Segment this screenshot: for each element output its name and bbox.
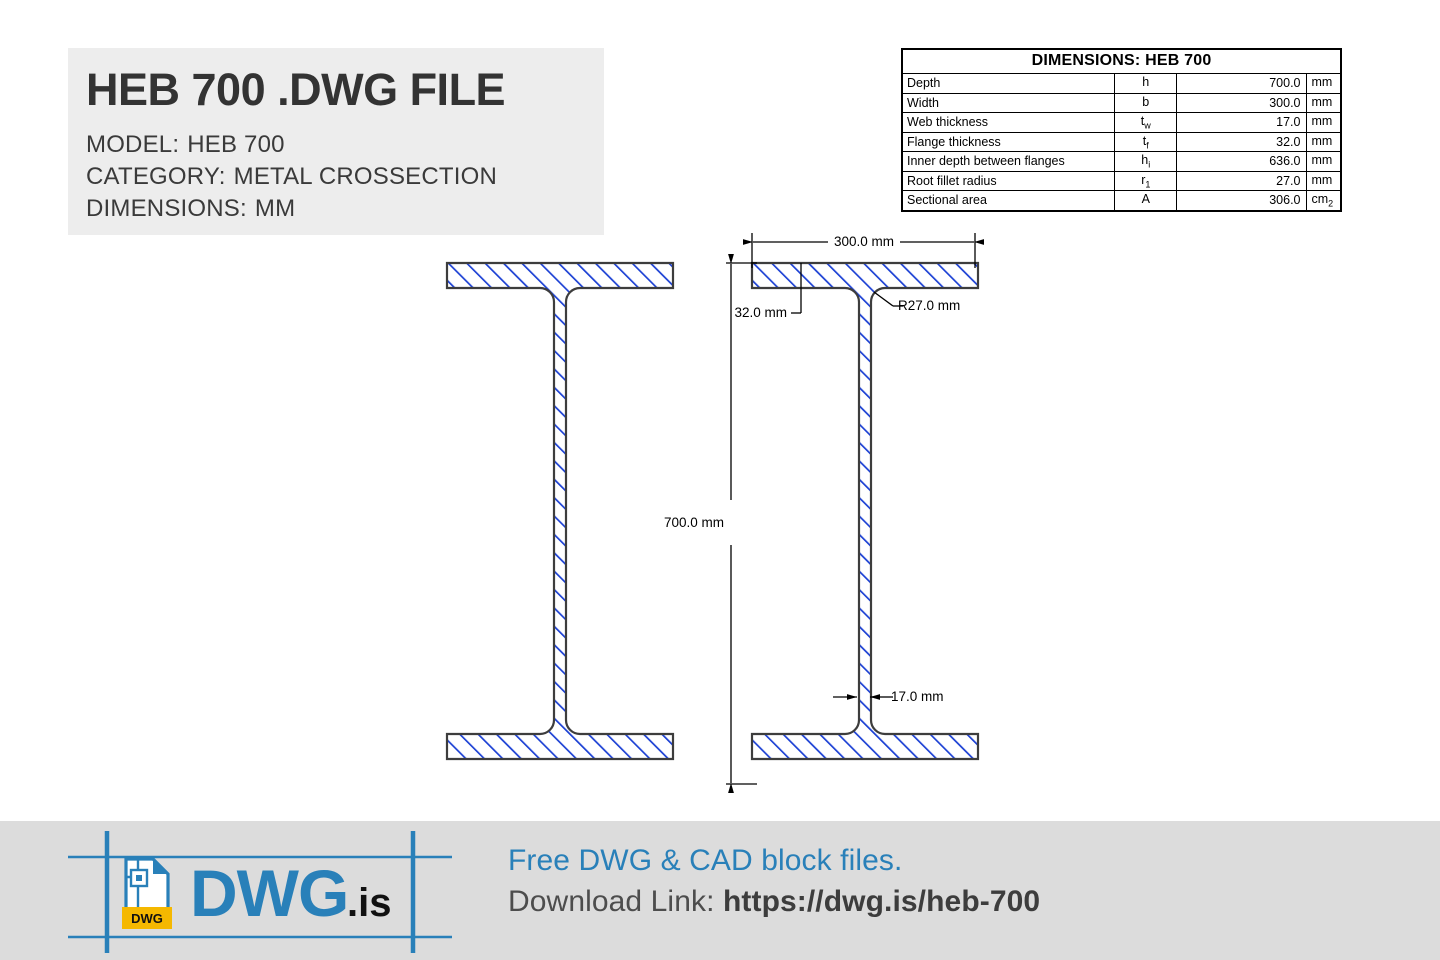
- footer-download-line: Download Link: https://dwg.is/heb-700: [508, 884, 1040, 919]
- ibeam-profile-right: [752, 263, 978, 759]
- dimension-width-label: 300.0 mm: [834, 234, 894, 249]
- footer-download-url[interactable]: https://dwg.is/heb-700: [723, 885, 1040, 918]
- footer-tagline: Free DWG & CAD block files.: [508, 843, 1040, 878]
- dimension-web-label: 17.0 mm: [891, 689, 944, 704]
- logo-wordmark-suffix: .is: [347, 881, 391, 925]
- dimension-depth: 700.0 mm: [664, 263, 757, 784]
- dwg-file-icon: DWG: [122, 859, 172, 929]
- cad-drawing: 300.0 mm 700.0 mm 32.0 mm R27.0 mm 17.0 …: [0, 0, 1440, 821]
- footer-download-label: Download Link:: [508, 885, 715, 918]
- dimension-depth-label: 700.0 mm: [664, 515, 724, 530]
- dwg-badge-label: DWG: [131, 911, 163, 926]
- dimension-radius-label: R27.0 mm: [898, 298, 960, 313]
- ibeam-profile-left: [447, 263, 673, 759]
- logo-wordmark: DWG: [190, 856, 348, 930]
- dimension-web: 17.0 mm: [833, 689, 944, 704]
- dimension-flange-label: 32.0 mm: [734, 305, 787, 320]
- dimension-radius: R27.0 mm: [874, 292, 960, 313]
- footer-bar: DWG DWG .is Free DWG & CAD block files. …: [0, 821, 1440, 960]
- dwg-logo[interactable]: DWG DWG .is: [60, 821, 460, 960]
- footer-text-block: Free DWG & CAD block files. Download Lin…: [508, 843, 1040, 920]
